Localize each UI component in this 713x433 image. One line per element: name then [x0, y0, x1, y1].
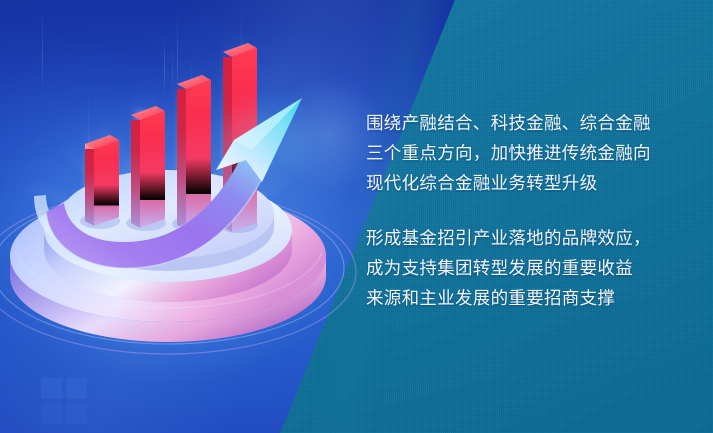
paragraph-2-line-2: 成为支持集团转型发展的重要收益	[366, 253, 696, 283]
paragraph-1-line-3: 现代化综合金融业务转型升级	[366, 168, 696, 198]
headline-paragraph-2: 形成基金招引产业落地的品牌效应， 成为支持集团转型发展的重要收益 来源和主业发展…	[366, 223, 696, 313]
paragraph-2-line-1: 形成基金招引产业落地的品牌效应，	[366, 223, 696, 253]
headline-paragraph-1: 围绕产融结合、科技金融、综合金融 三个重点方向，加快推进传统金融向 现代化综合金…	[366, 108, 696, 198]
banner-root: 围绕产融结合、科技金融、综合金融 三个重点方向，加快推进传统金融向 现代化综合金…	[0, 0, 713, 433]
paragraph-1-line-2: 三个重点方向，加快推进传统金融向	[366, 138, 696, 168]
paragraph-1-line-1: 围绕产融结合、科技金融、综合金融	[366, 108, 696, 138]
paragraph-2-line-3: 来源和主业发展的重要招商支撑	[366, 283, 696, 313]
